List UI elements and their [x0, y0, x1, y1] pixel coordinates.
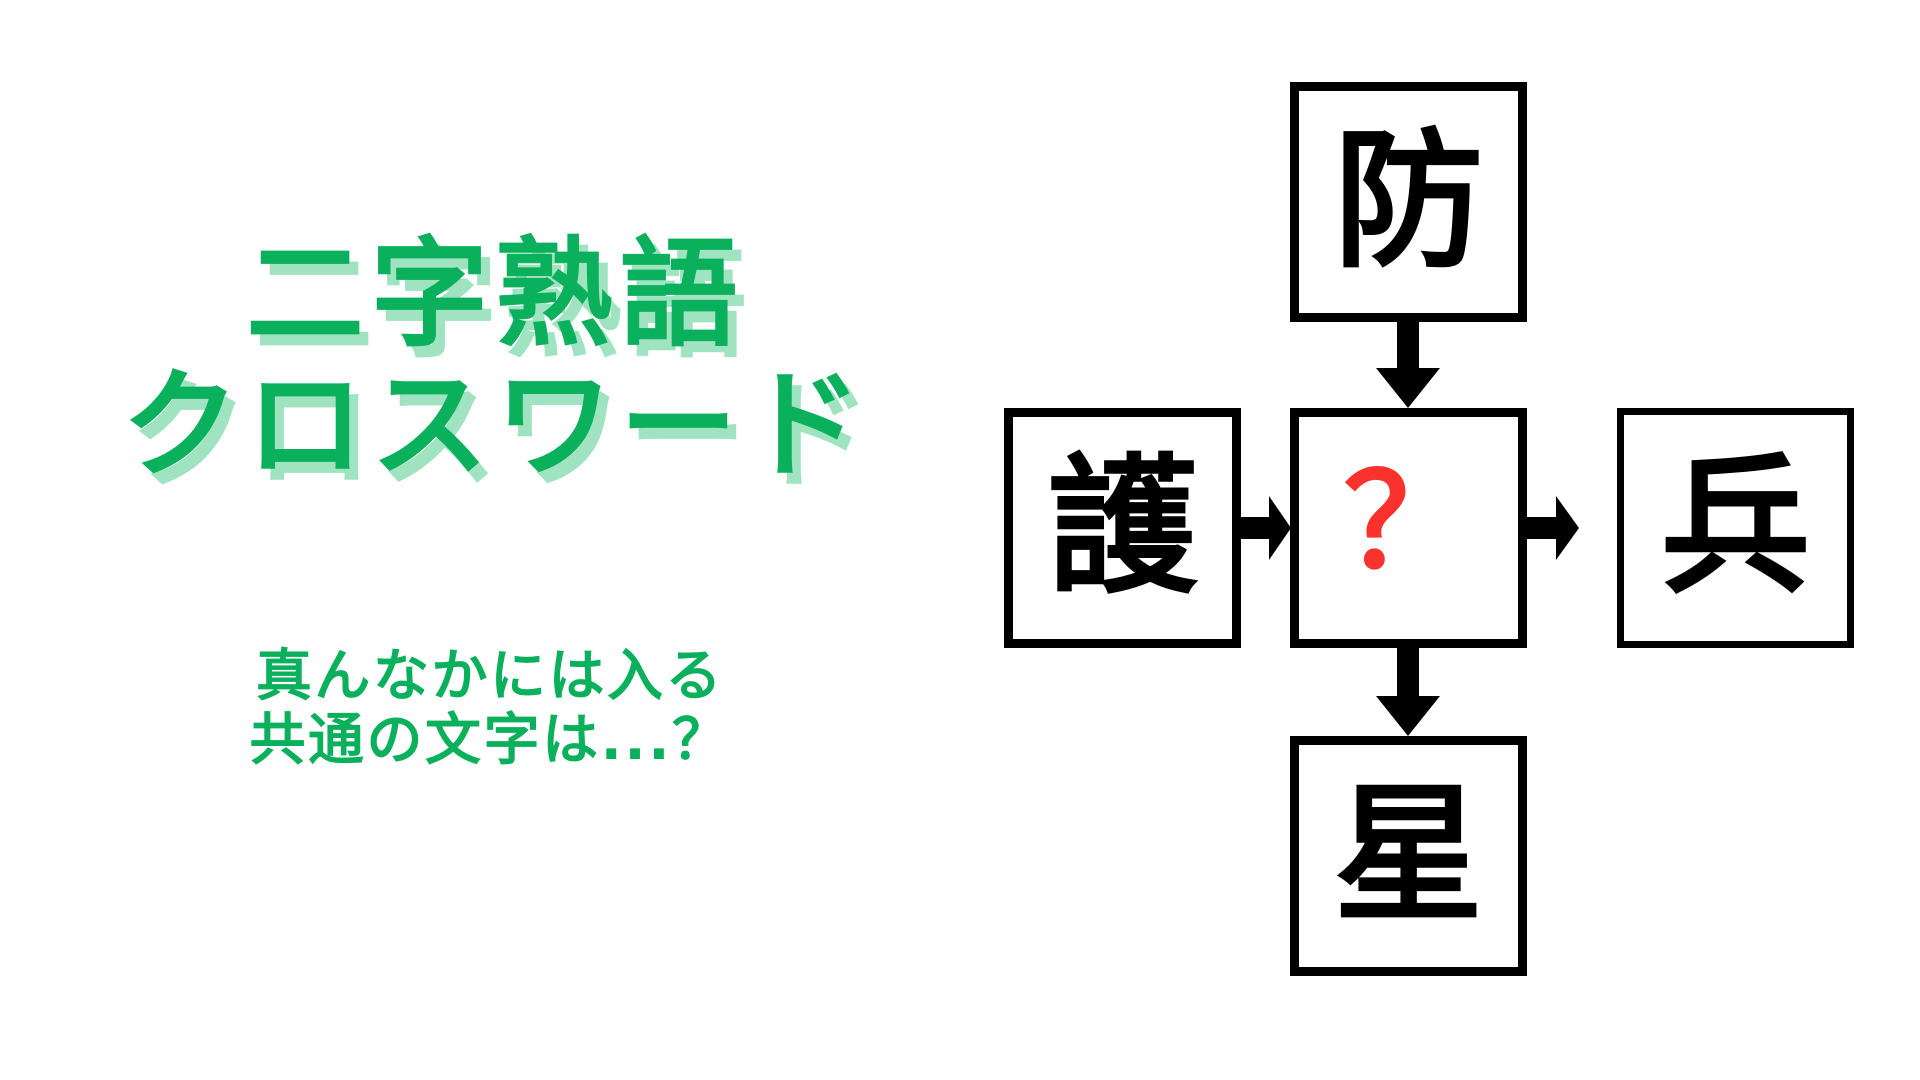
slide-canvas: 二字熟語 クロスワード 真んなかには入る 共通の文字は...？ 防 護 ？ 兵 … — [0, 0, 1920, 1080]
puzzle-cell-top: 防 — [1290, 82, 1527, 322]
subtitle-line-1: 真んなかには入る — [0, 645, 980, 709]
title-block: 二字熟語 クロスワード — [0, 232, 990, 488]
puzzle-cell-bottom: 星 — [1290, 736, 1527, 976]
title-line-2: クロスワード — [0, 363, 990, 488]
puzzle-cell-left-label: 護 — [1047, 453, 1197, 603]
arrow-right-icon — [1241, 496, 1291, 560]
subtitle-line-2: 共通の文字は...？ — [0, 709, 980, 773]
crossword-puzzle: 防 護 ？ 兵 星 — [980, 60, 1920, 1020]
arrow-right-icon — [1527, 496, 1579, 560]
puzzle-cell-right-label: 兵 — [1660, 453, 1810, 603]
subtitle-block: 真んなかには入る 共通の文字は...？ — [0, 645, 980, 773]
puzzle-cell-bottom-label: 星 — [1333, 781, 1483, 931]
title-line-1: 二字熟語 — [0, 232, 990, 357]
puzzle-cell-right: 兵 — [1617, 408, 1854, 648]
puzzle-cell-center-answer[interactable]: ？ — [1290, 408, 1527, 648]
arrow-down-icon — [1376, 648, 1440, 736]
question-mark-label: ？ — [1343, 457, 1473, 587]
arrow-down-icon — [1376, 322, 1440, 408]
puzzle-cell-top-label: 防 — [1333, 127, 1483, 277]
puzzle-cell-left: 護 — [1004, 408, 1241, 648]
